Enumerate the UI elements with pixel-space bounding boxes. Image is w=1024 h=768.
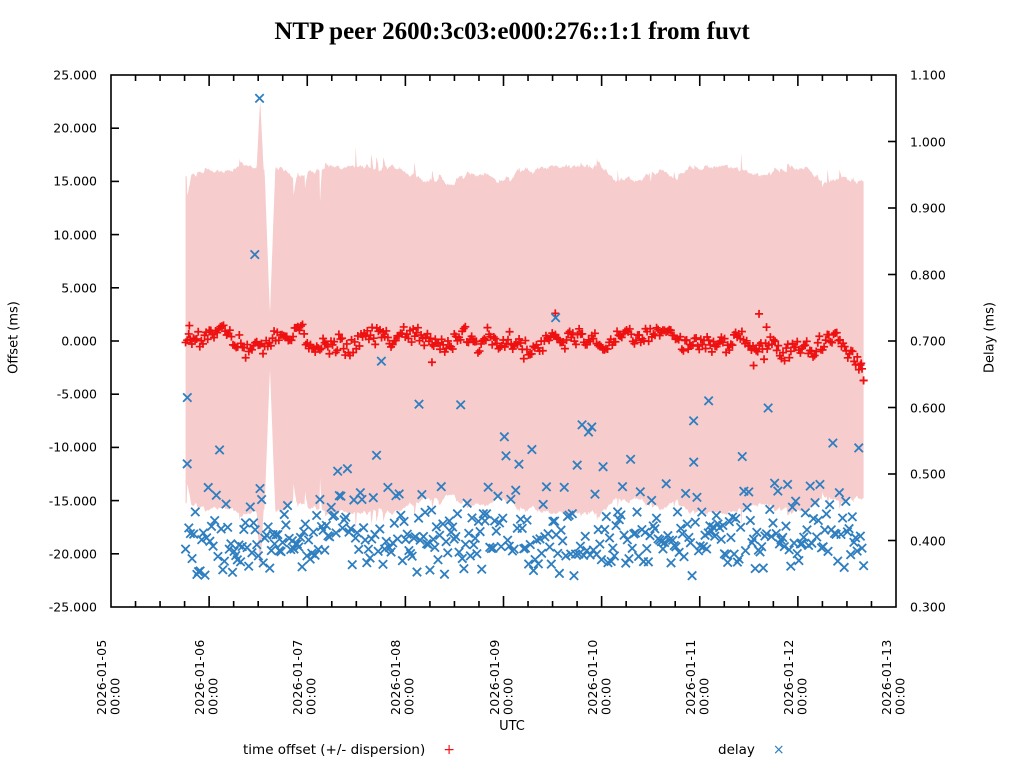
y-right-tick-label: 1.100 xyxy=(910,68,946,83)
y-right-tick-label: 1.000 xyxy=(910,134,946,149)
x-tick-label: 2026-01-0700:00 xyxy=(291,615,318,715)
y-left-tick-label: -5.000 xyxy=(0,387,97,402)
y-left-tick-label: 5.000 xyxy=(0,280,97,295)
x-tick-label: 2026-01-0500:00 xyxy=(95,615,122,715)
x-tick-label: 2026-01-0900:00 xyxy=(488,615,515,715)
x-tick-date: 2026-01-09 xyxy=(488,615,502,715)
x-tick-date: 2026-01-10 xyxy=(586,615,600,715)
x-tick-time: 00:00 xyxy=(207,615,221,715)
x-tick-time: 00:00 xyxy=(894,615,908,715)
x-axis-title: UTC xyxy=(0,719,1024,734)
plus-marker-icon: + xyxy=(443,743,455,757)
x-tick-label: 2026-01-1200:00 xyxy=(782,615,809,715)
x-tick-label: 2026-01-0800:00 xyxy=(389,615,416,715)
legend-label-delay: delay xyxy=(718,742,755,758)
y-left-tick-label: -10.000 xyxy=(0,440,97,455)
y-left-tick-label: -20.000 xyxy=(0,546,97,561)
x-tick-time: 00:00 xyxy=(795,615,809,715)
x-tick-date: 2026-01-13 xyxy=(880,615,894,715)
x-tick-time: 00:00 xyxy=(305,615,319,715)
y-left-tick-label: 25.000 xyxy=(0,68,97,83)
y-left-tick-label: -15.000 xyxy=(0,493,97,508)
y-left-tick-label: -25.000 xyxy=(0,600,97,615)
x-tick-time: 00:00 xyxy=(109,615,123,715)
y-left-tick-label: 10.000 xyxy=(0,227,97,242)
legend: time offset (+/- dispersion) + delay × xyxy=(0,739,1024,761)
y-right-tick-label: 0.300 xyxy=(910,600,946,615)
x-tick-date: 2026-01-11 xyxy=(684,615,698,715)
cross-marker-icon: × xyxy=(773,743,785,757)
x-tick-label: 2026-01-1100:00 xyxy=(684,615,711,715)
x-tick-label: 2026-01-0600:00 xyxy=(193,615,220,715)
x-tick-date: 2026-01-05 xyxy=(95,615,109,715)
legend-label-offset: time offset (+/- dispersion) xyxy=(243,742,425,758)
x-tick-label: 2026-01-1000:00 xyxy=(586,615,613,715)
y-right-tick-label: 0.500 xyxy=(910,467,946,482)
y-right-tick-label: 0.800 xyxy=(910,267,946,282)
y-axis-right-title: Delay (ms) xyxy=(983,278,998,398)
x-tick-date: 2026-01-12 xyxy=(782,615,796,715)
y-right-tick-label: 0.400 xyxy=(910,533,946,548)
y-right-tick-label: 0.900 xyxy=(910,201,946,216)
x-tick-time: 00:00 xyxy=(501,615,515,715)
legend-item-delay: delay × xyxy=(718,739,785,761)
x-tick-time: 00:00 xyxy=(697,615,711,715)
legend-item-offset: time offset (+/- dispersion) + xyxy=(243,739,455,761)
chart-canvas: NTP peer 2600:3c03:e000:276::1:1 from fu… xyxy=(0,0,1024,768)
y-left-tick-label: 15.000 xyxy=(0,174,97,189)
x-tick-time: 00:00 xyxy=(403,615,417,715)
y-left-tick-label: 20.000 xyxy=(0,121,97,136)
x-tick-time: 00:00 xyxy=(599,615,613,715)
x-tick-label: 2026-01-1300:00 xyxy=(880,615,907,715)
y-left-tick-label: 0.000 xyxy=(0,334,97,349)
y-right-tick-label: 0.600 xyxy=(910,400,946,415)
y-right-tick-label: 0.700 xyxy=(910,334,946,349)
